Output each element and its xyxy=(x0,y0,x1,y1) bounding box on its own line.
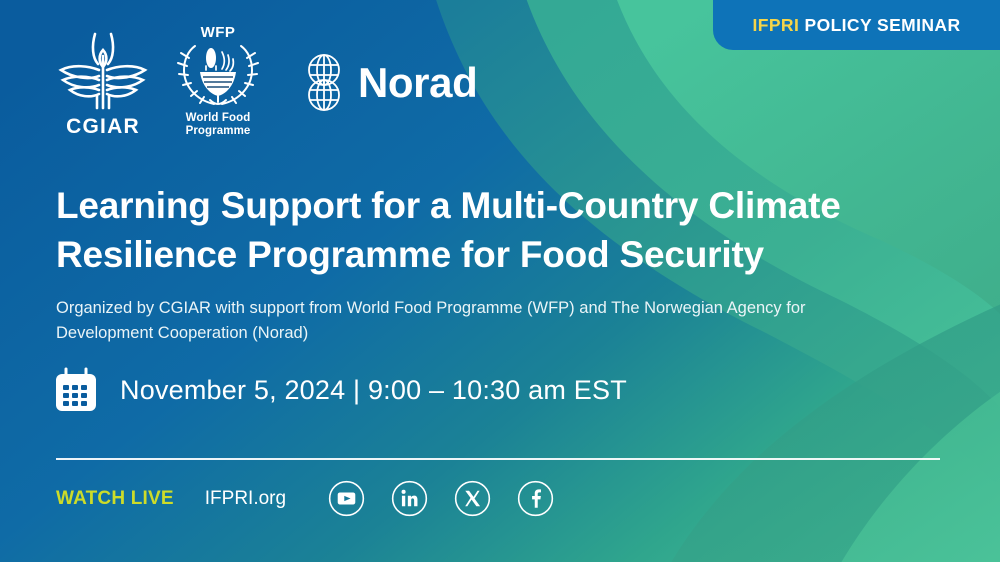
banner-title: POLICY SEMINAR xyxy=(805,15,961,35)
calendar-icon xyxy=(52,366,100,414)
policy-seminar-banner: IFPRI POLICY SEMINAR xyxy=(713,0,1000,50)
website-link[interactable]: IFPRI.org xyxy=(205,488,286,510)
cgiar-caption: CGIAR xyxy=(66,115,140,139)
event-datetime: November 5, 2024 | 9:00 – 10:30 am EST xyxy=(120,375,627,406)
cgiar-wheat-icon xyxy=(57,30,149,110)
linkedin-icon[interactable] xyxy=(391,480,428,517)
banner-label: IFPRI POLICY SEMINAR xyxy=(753,15,961,36)
wfp-caption-line2: Programme xyxy=(186,125,251,137)
facebook-icon[interactable] xyxy=(517,480,554,517)
logo-norad: Norad xyxy=(300,52,477,114)
watch-live-label: WATCH LIVE xyxy=(56,488,174,510)
norad-globe-icon xyxy=(300,52,348,114)
wfp-caption-line1: World Food xyxy=(186,112,251,124)
banner-brand: IFPRI xyxy=(753,15,800,35)
footer-divider xyxy=(56,458,940,460)
social-links xyxy=(328,480,554,517)
page-title: Learning Support for a Multi-Country Cli… xyxy=(56,181,886,279)
x-icon[interactable] xyxy=(454,480,491,517)
poster-content: CGIAR WFP xyxy=(0,0,1000,562)
footer-bar: WATCH LIVE IFPRI.org xyxy=(56,480,554,517)
logo-cgiar: CGIAR xyxy=(48,30,158,139)
seminar-poster: IFPRI POLICY SEMINAR xyxy=(0,0,1000,562)
youtube-icon[interactable] xyxy=(328,480,365,517)
wfp-wreath-icon xyxy=(176,42,260,108)
wfp-caption: World Food Programme xyxy=(186,112,251,138)
page-subtitle: Organized by CGIAR with support from Wor… xyxy=(56,296,886,347)
event-datetime-row: November 5, 2024 | 9:00 – 10:30 am EST xyxy=(52,366,627,414)
wfp-abbr: WFP xyxy=(201,24,236,41)
norad-wordmark: Norad xyxy=(358,62,477,104)
logo-wfp: WFP xyxy=(172,24,264,138)
partner-logos: CGIAR WFP xyxy=(48,30,477,139)
